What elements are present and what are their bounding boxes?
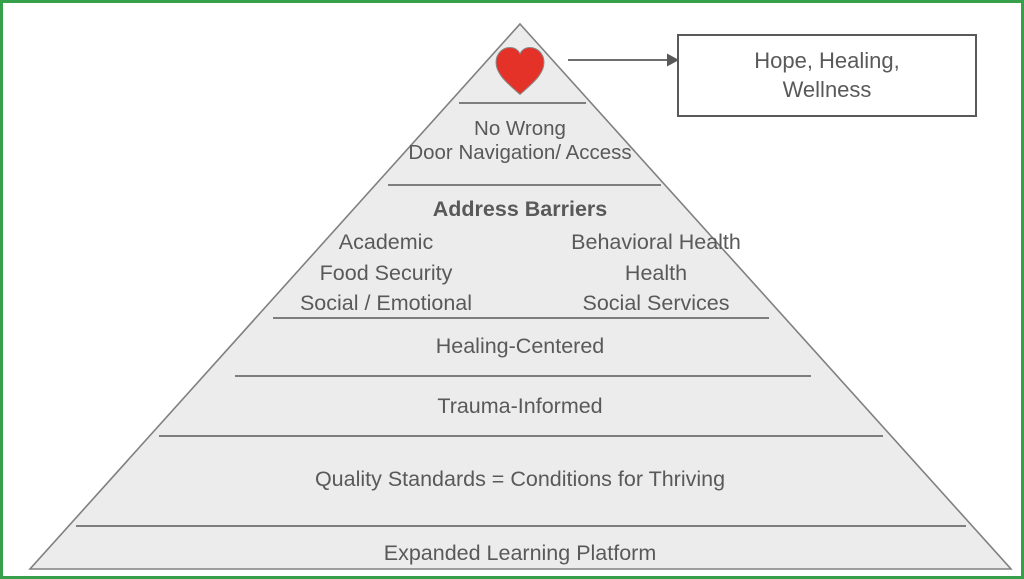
barrier-item: Academic — [261, 227, 511, 258]
barrier-item: Food Security — [261, 258, 511, 289]
arrow-right-icon — [568, 54, 679, 67]
barriers-column-right: Behavioral Health Health Social Services — [531, 227, 781, 319]
barrier-item: Health — [531, 258, 781, 289]
callout-text: Hope, Healing, Wellness — [754, 47, 900, 104]
barrier-item: Social Services — [531, 288, 781, 319]
barrier-item: Behavioral Health — [531, 227, 781, 258]
address-barriers-columns: Academic Food Security Social / Emotiona… — [261, 227, 781, 319]
diagram-canvas: Hope, Healing, Wellness No Wrong Door Na… — [0, 0, 1024, 579]
barriers-column-left: Academic Food Security Social / Emotiona… — [261, 227, 511, 319]
callout-box: Hope, Healing, Wellness — [677, 34, 977, 117]
barrier-item: Social / Emotional — [261, 288, 511, 319]
